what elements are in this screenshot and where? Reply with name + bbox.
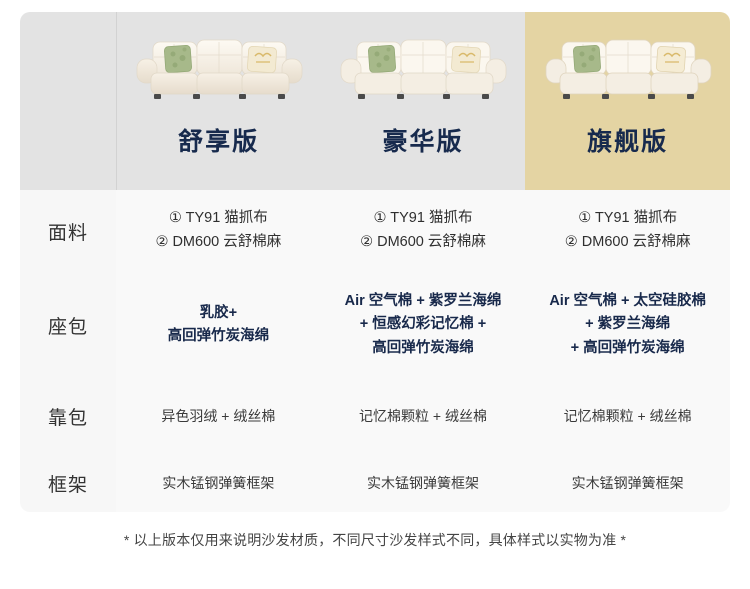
cell-text: ① TY91 猫抓布 ② DM600 云舒棉麻 [321,207,526,255]
cell-text: ① TY91 猫抓布 ② DM600 云舒棉麻 [116,207,321,255]
cell-fabric-shuxiang: ① TY91 猫抓布 ② DM600 云舒棉麻 [116,190,321,272]
green-pillow [368,45,396,73]
plan-name-qijian: 旗舰版 [525,130,730,155]
gold-pillow [451,46,481,73]
gold-pillow [247,46,277,73]
cell-seat-qijian: Air 空气棉 + 太空硅胶棉 + 紫罗兰海绵 + 高回弹竹炭海绵 [525,272,730,378]
plan-header-qijian[interactable]: 旗舰版 [525,12,730,190]
comparison-page: 舒享版 [0,0,750,589]
sofa-image-shuxiang [117,12,321,122]
footnote-text: * 以上版本仅用来说明沙发材质，不同尺寸沙发样式不同，具体样式以实物为准 * [0,530,750,550]
cell-frame-qijian: 实木锰钢弹簧框架 [525,455,730,512]
sofa-image-qijian [525,12,730,122]
sofa-illustration [338,29,508,111]
row-label-backrest: 靠包 [20,378,116,455]
cell-text: 记忆棉颗粒 + 绒丝棉 [525,405,730,428]
table-row-seat: 座包 乳胶+ 高回弹竹炭海绵 Air 空气棉 + 紫罗兰海绵 + 恒感幻彩记忆棉… [20,272,730,378]
sofa-image-haohua [321,12,526,122]
cell-seat-shuxiang: 乳胶+ 高回弹竹炭海绵 [116,272,321,378]
cell-text: 乳胶+ 高回弹竹炭海绵 [116,302,321,348]
cell-frame-haohua: 实木锰钢弹簧框架 [321,455,526,512]
cell-text: Air 空气棉 + 太空硅胶棉 + 紫罗兰海绵 + 高回弹竹炭海绵 [525,290,730,360]
green-pillow [164,45,192,73]
cell-text: ① TY91 猫抓布 ② DM600 云舒棉麻 [525,207,730,255]
spec-comparison-table: 舒享版 [20,12,730,512]
header-corner-cell [20,12,116,190]
plan-name-haohua: 豪华版 [321,130,526,155]
cell-fabric-haohua: ① TY91 猫抓布 ② DM600 云舒棉麻 [321,190,526,272]
plan-header-shuxiang[interactable]: 舒享版 [116,12,321,190]
row-label-fabric: 面料 [20,190,116,272]
cell-fabric-qijian: ① TY91 猫抓布 ② DM600 云舒棉麻 [525,190,730,272]
cell-frame-shuxiang: 实木锰钢弹簧框架 [116,455,321,512]
table-header-row: 舒享版 [20,12,730,190]
cell-text: Air 空气棉 + 紫罗兰海绵 + 恒感幻彩记忆棉 + 高回弹竹炭海绵 [321,290,526,360]
table-row-frame: 框架 实木锰钢弹簧框架 实木锰钢弹簧框架 实木锰钢弹簧框架 [20,455,730,512]
cell-backrest-qijian: 记忆棉颗粒 + 绒丝棉 [525,378,730,455]
cell-text: 记忆棉颗粒 + 绒丝棉 [321,405,526,428]
cell-backrest-haohua: 记忆棉颗粒 + 绒丝棉 [321,378,526,455]
cell-seat-haohua: Air 空气棉 + 紫罗兰海绵 + 恒感幻彩记忆棉 + 高回弹竹炭海绵 [321,272,526,378]
row-label-frame: 框架 [20,455,116,512]
cell-text: 实木锰钢弹簧框架 [525,472,730,495]
cell-text: 实木锰钢弹簧框架 [116,472,321,495]
cell-text: 实木锰钢弹簧框架 [321,472,526,495]
plan-name-shuxiang: 舒享版 [117,130,321,155]
table-row-fabric: 面料 ① TY91 猫抓布 ② DM600 云舒棉麻 ① TY91 猫抓布 ② … [20,190,730,272]
cell-text: 异色羽绒 + 绒丝棉 [116,405,321,428]
sofa-illustration [134,29,304,111]
row-label-seat: 座包 [20,272,116,378]
gold-pillow [656,46,686,73]
plan-header-haohua[interactable]: 豪华版 [321,12,526,190]
cell-backrest-shuxiang: 异色羽绒 + 绒丝棉 [116,378,321,455]
sofa-illustration [543,29,713,111]
green-pillow [573,45,601,73]
table-row-backrest: 靠包 异色羽绒 + 绒丝棉 记忆棉颗粒 + 绒丝棉 记忆棉颗粒 + 绒丝棉 [20,378,730,455]
